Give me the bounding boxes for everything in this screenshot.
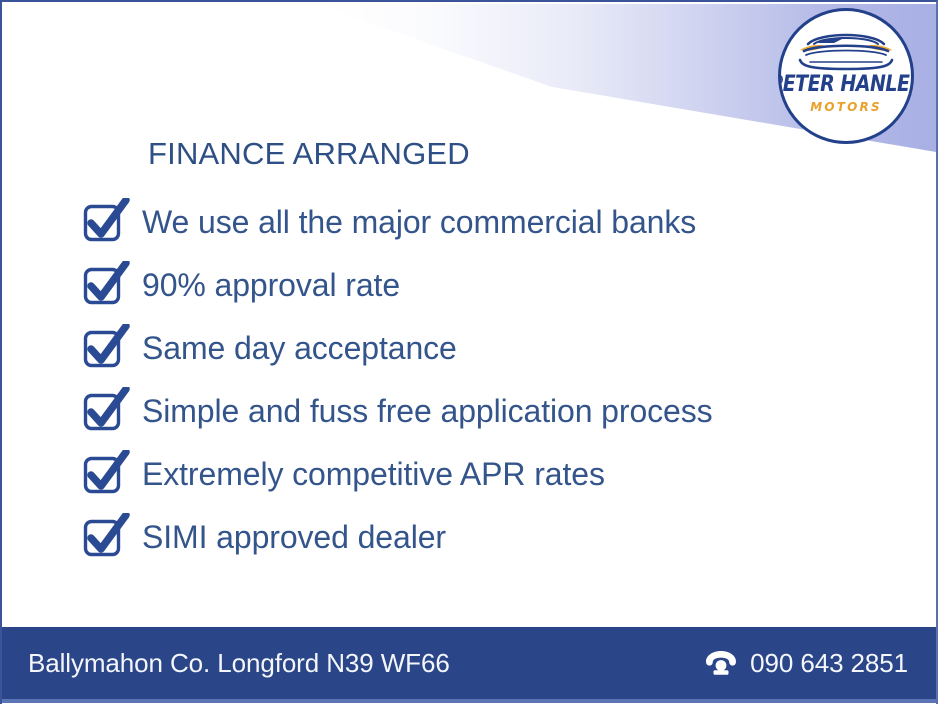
list-item: Extremely competitive APR rates — [82, 442, 916, 505]
checkbox-checked-icon — [82, 513, 134, 561]
dealer-logo-badge: PETER HANLEY MOTORS — [778, 8, 914, 144]
list-item-label: Simple and fuss free application process — [142, 395, 713, 427]
list-item: SIMI approved dealer — [82, 505, 916, 568]
logo-brand-name: PETER HANLEY — [778, 73, 914, 95]
finance-benefits-list: We use all the major commercial banks 90… — [82, 190, 916, 568]
telephone-icon — [704, 648, 738, 678]
list-item-label: Same day acceptance — [142, 332, 457, 364]
footer-phone-group: 090 643 2851 — [704, 648, 908, 679]
list-item-label: SIMI approved dealer — [142, 521, 446, 553]
footer-phone-number: 090 643 2851 — [750, 648, 908, 679]
list-item-label: We use all the major commercial banks — [142, 206, 696, 238]
list-item-label: Extremely competitive APR rates — [142, 458, 605, 490]
checkbox-checked-icon — [82, 450, 134, 498]
list-item: 90% approval rate — [82, 253, 916, 316]
car-front-logo-icon — [790, 24, 902, 74]
list-item: Same day acceptance — [82, 316, 916, 379]
checkbox-checked-icon — [82, 387, 134, 435]
finance-advert-card: PETER HANLEY MOTORS FINANCE ARRANGED We … — [0, 0, 938, 704]
footer-address: Ballymahon Co. Longford N39 WF66 — [28, 648, 450, 679]
footer-underline — [2, 699, 936, 703]
checkbox-checked-icon — [82, 261, 134, 309]
logo-brand-sub: MOTORS — [810, 101, 882, 113]
checkbox-checked-icon — [82, 198, 134, 246]
list-item: Simple and fuss free application process — [82, 379, 916, 442]
page-title: FINANCE ARRANGED — [148, 136, 470, 172]
footer-contact-bar: Ballymahon Co. Longford N39 WF66 090 643… — [2, 627, 936, 699]
list-item: We use all the major commercial banks — [82, 190, 916, 253]
list-item-label: 90% approval rate — [142, 269, 400, 301]
checkbox-checked-icon — [82, 324, 134, 372]
